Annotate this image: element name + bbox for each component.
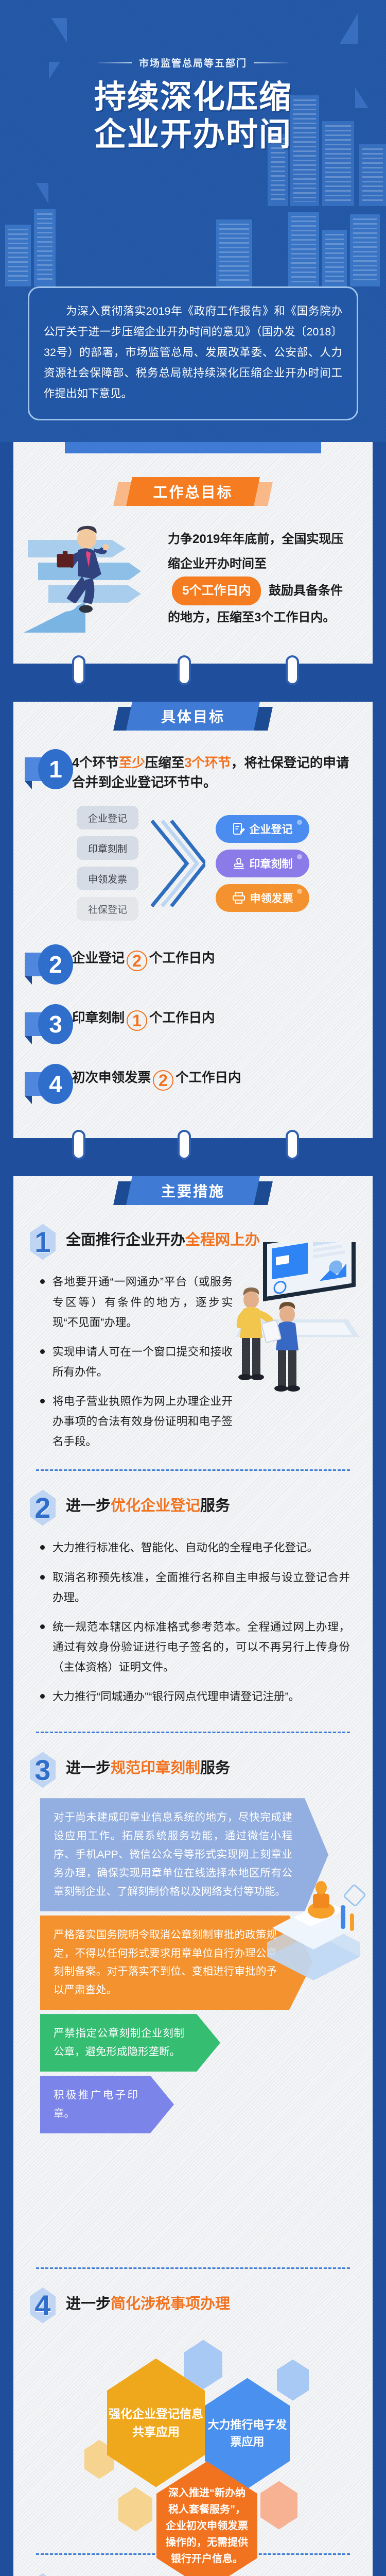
overall-goal-text: 力争2019年年底前，全国实现压缩企业开办时间至 5个工作日内 鼓励具备条件的地… xyxy=(168,527,355,630)
goal-unit: 个工作日内 xyxy=(149,951,215,965)
page-title-line2: 企业开办时间 xyxy=(0,116,386,154)
overall-goal-panel: 工作总目标 xyxy=(13,442,373,664)
arrow-bands: 对于尚未建成印章业信息系统的地方，尽快完成建设应用工作。拓展系统服务功能，通过微… xyxy=(13,1789,373,2133)
bullet-item: 各地要开通“一网通办”平台（或服务专区等）有条件的地方，逐步实现“不见面”办理。 xyxy=(38,1272,233,1332)
measure-title-highlight: 规范印章刻制 xyxy=(111,1760,200,1776)
measure-number-badge: 3 xyxy=(27,1751,59,1789)
goal1-text-b: 压缩至 xyxy=(145,756,185,770)
measure-title: 进一步简化涉税事项办理 xyxy=(66,2286,230,2314)
binder-ring xyxy=(178,1130,191,1160)
goal-days: 1 xyxy=(127,1010,147,1031)
measure-title-suffix: 服务 xyxy=(200,1498,230,1514)
hero-kicker: 市场监管总局等五部门 xyxy=(0,0,386,70)
binder-ring xyxy=(286,655,299,685)
section-ribbon-label: 主要措施 xyxy=(129,1176,257,1205)
flow-new-step: 印章刻制 xyxy=(216,850,309,877)
goal-label: 初次申领发票 xyxy=(72,1071,151,1085)
kicker-line-left xyxy=(98,62,132,63)
decor-hexagon xyxy=(260,2481,297,2530)
specific-goals-panel: 具体目标 1 4个环节至少压缩至3个环节，将社保登记的申请合并到企业登记环节中。… xyxy=(13,702,373,1139)
binder-rings xyxy=(0,655,386,685)
measure-number-badge: 1 xyxy=(27,1223,59,1261)
binder-ring xyxy=(72,655,85,685)
flow-old-step: 申领发票 xyxy=(77,867,138,890)
panel-divider xyxy=(0,664,386,677)
flow-new-step: 企业登记 xyxy=(216,815,309,843)
kicker-line-right xyxy=(254,62,288,63)
goal-days: 2 xyxy=(153,1070,173,1091)
overall-goal-text-before: 力争2019年年底前，全国实现压缩企业开办时间至 xyxy=(168,532,343,571)
pill-dot xyxy=(297,854,302,859)
document-edit-icon xyxy=(233,822,245,836)
chevron-right-icon xyxy=(149,815,205,912)
hexagon-cluster: 强化企业登记信息共享应用 大力推行电子发票应用 深入推进“新办纳税人套餐服务”，… xyxy=(13,2329,373,2535)
hero-kicker-text: 市场监管总局等五部门 xyxy=(139,56,247,70)
goal-number: 2 xyxy=(38,944,73,985)
flow-chevron-arrows xyxy=(149,815,205,912)
goal-unit: 个工作日内 xyxy=(149,1011,215,1025)
invoice-printer-icon xyxy=(232,892,245,904)
measure-header: 3 进一步规范印章刻制服务 xyxy=(13,1733,373,1789)
goal-days: 2 xyxy=(127,951,147,971)
overall-goal-highlight-badge: 5个工作日内 xyxy=(172,577,261,605)
specific-goal-text: 初次申领发票2个工作日内 xyxy=(72,1061,352,1091)
page-title: 持续深化压缩 企业开办时间 xyxy=(0,79,386,154)
goal1-text-a: 4个环节 xyxy=(72,756,119,770)
running-businessman-illustration xyxy=(19,519,168,638)
specific-goal-row: 3 印章刻制1个工作日内 xyxy=(13,986,373,1045)
stamp-icon xyxy=(233,857,245,870)
hero-banner: 市场监管总局等五部门 持续深化压缩 企业开办时间 xyxy=(0,0,386,206)
measure-title-suffix: 服务 xyxy=(200,1760,230,1776)
flow-old-steps: 企业登记 印章刻制 申领发票 社保登记 xyxy=(77,806,138,921)
measure-number: 2 xyxy=(34,1491,50,1524)
goal-label: 印章刻制 xyxy=(72,1011,125,1025)
flow-old-step: 社保登记 xyxy=(77,897,138,921)
measure-title: 进一步优化企业登记服务 xyxy=(66,1488,230,1516)
goal-unit: 个工作日内 xyxy=(176,1071,241,1085)
panel-divider xyxy=(0,1138,386,1151)
measure-title-prefix: 进一步 xyxy=(66,1498,111,1514)
measure-title-highlight: 优化企业登记 xyxy=(111,1498,200,1514)
flow-old-step: 印章刻制 xyxy=(77,836,138,860)
pill-dot xyxy=(297,889,302,894)
bullet-item: 统一规范本辖区内标准格式参考范本。全程通过网上办理，通过有效身份验证进行电子签名… xyxy=(38,1617,350,1677)
measure-title: 进一步规范印章刻制服务 xyxy=(66,1751,230,1778)
decor-hexagon xyxy=(118,2487,152,2532)
flow-new-step-label: 企业登记 xyxy=(250,821,293,837)
binder-rings xyxy=(0,1130,386,1160)
specific-goal-row: 4 初次申领发票2个工作日内 xyxy=(13,1045,373,1117)
main-measures-panel: 主要措施 1 全面推行企业开办全程网上办 各地要开通“一网通办”平台（或服务专区… xyxy=(13,1176,373,2576)
specific-goal-row: 2 企业登记2个工作日内 xyxy=(13,926,373,986)
section-ribbon-overall-goal: 工作总目标 xyxy=(116,477,270,506)
goal-number-badge: 2 xyxy=(25,941,72,986)
measure-title-plain: 全面推行企业开办 xyxy=(66,1232,185,1248)
flow-new-step-label: 申领发票 xyxy=(250,890,293,906)
process-flow-diagram: 企业登记 印章刻制 申领发票 社保登记 xyxy=(13,792,373,926)
measure-number-badge: 2 xyxy=(27,1488,59,1527)
intro-paragraph: 为深入贯彻落实2019年《政府工作报告》和《国务院办公厅关于进一步压缩企业开办时… xyxy=(28,286,358,420)
specific-goal-text: 企业登记2个工作日内 xyxy=(72,941,352,971)
goal-number-badge: 3 xyxy=(25,1001,72,1045)
arrow-band: 严禁指定公章刻制企业刻制公章，避免形成隐形垄断。 xyxy=(40,2014,220,2072)
specific-goal-row: 1 4个环节至少压缩至3个环节，将社保登记的申请合并到企业登记环节中。 xyxy=(13,731,373,793)
goal1-hl-b: 3个环节 xyxy=(184,756,231,770)
bullet-item: 大力推行标准化、智能化、自动化的全程电子化登记。 xyxy=(38,1538,350,1558)
measure-bullets: 大力推行标准化、智能化、自动化的全程电子化登记。 取消名称预先核准，全面推行名称… xyxy=(13,1527,373,1707)
flow-new-step-label: 印章刻制 xyxy=(250,856,293,871)
goal-number: 3 xyxy=(38,1004,73,1044)
flow-old-step: 企业登记 xyxy=(77,806,138,829)
section-ribbon-label: 具体目标 xyxy=(129,702,257,731)
goal1-hl-a: 至少 xyxy=(119,756,145,770)
binder-ring xyxy=(286,1130,299,1160)
measure-number: 4 xyxy=(34,2289,50,2322)
specific-goal-text: 印章刻制1个工作日内 xyxy=(72,1001,352,1031)
intro-skyline-illustration xyxy=(0,209,386,286)
page-title-line1: 持续深化压缩 xyxy=(0,79,386,116)
bullet-item: 大力推行“同城通办”“银行网点代理申请登记注册”。 xyxy=(38,1687,350,1707)
measure-header: 2 进一步优化企业登记服务 xyxy=(13,1471,373,1527)
measure-title-prefix: 进一步 xyxy=(66,1760,111,1776)
goal-number: 4 xyxy=(38,1064,73,1104)
bullet-item: 将电子营业执照作为网上办理企业开办事项的合法有效身份证明和电子签名手段。 xyxy=(38,1392,233,1452)
measure-header: 4 进一步简化涉税事项办理 xyxy=(13,2269,373,2325)
decor-hexagon xyxy=(277,2360,309,2401)
stamp-3d-illustration xyxy=(249,1856,378,1985)
measure-number-badge: 4 xyxy=(27,2286,59,2325)
goal-number: 1 xyxy=(38,749,73,789)
measure-number-badge: 5 xyxy=(27,2572,59,2576)
specific-goal-text: 4个环节至少压缩至3个环节，将社保登记的申请合并到企业登记环节中。 xyxy=(72,746,352,793)
pill-dot xyxy=(297,820,302,825)
flow-new-steps: 企业登记 印章刻制 xyxy=(216,815,309,912)
binder-ring xyxy=(72,1130,85,1160)
arrow-band: 积极推广电子印章。 xyxy=(40,2076,174,2133)
infographic-poster: 市场监管总局等五部门 持续深化压缩 企业开办时间 为深入贯彻落实2019年《政府… xyxy=(0,0,386,2576)
goal-number-badge: 4 xyxy=(25,1061,72,1105)
measure-number: 1 xyxy=(34,1225,50,1259)
flow-new-step: 申领发票 xyxy=(216,884,309,912)
measure-title-highlight: 简化涉税事项办理 xyxy=(111,2296,230,2312)
section-ribbon-specific-goals: 具体目标 xyxy=(116,702,270,731)
bullet-item: 实现申请人可在一个窗口提交和接收所有办件。 xyxy=(38,1342,233,1382)
measure-number: 3 xyxy=(34,1753,50,1787)
binder-ring xyxy=(178,655,191,685)
panel-tab xyxy=(65,442,321,453)
goal-number-badge: 1 xyxy=(25,746,72,790)
intro-section: 为深入贯彻落实2019年《政府工作报告》和《国务院办公厅关于进一步压缩企业开办时… xyxy=(0,206,386,442)
measure-title-prefix: 进一步 xyxy=(66,2296,111,2312)
decor-triangle xyxy=(36,183,48,204)
section-ribbon-label: 工作总目标 xyxy=(129,477,257,506)
overall-goal-row: 力争2019年年底前，全国实现压缩企业开办时间至 5个工作日内 鼓励具备条件的地… xyxy=(13,506,373,643)
bullet-item: 取消名称预先核准，全面推行名称自主申报与设立登记合并办理。 xyxy=(38,1568,350,1608)
section-ribbon-main-measures: 主要措施 xyxy=(116,1176,270,1205)
goal-label: 企业登记 xyxy=(72,951,125,965)
two-people-laptop-illustration xyxy=(214,1242,369,1397)
